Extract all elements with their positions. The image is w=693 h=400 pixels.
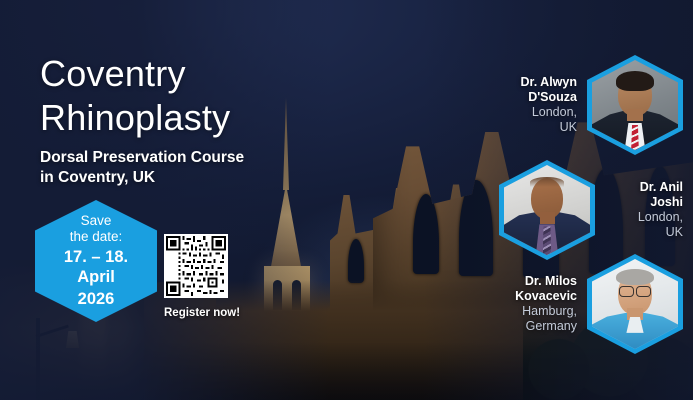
speaker-country: Germany [515,319,577,334]
speaker-card-milos-kovacevic: Dr. Milos Kovacevic Hamburg, Germany [515,254,683,354]
qr-code-icon[interactable] [164,234,228,298]
speaker-portrait-hexagon [499,160,595,260]
portrait-milos-kovacevic [592,259,678,349]
speaker-name-line-2: D'Souza [521,90,578,105]
headline-line-2: Rhinoplasty [40,96,230,140]
event-dates: 17. – 18. [64,248,128,268]
save-the-date-line-1: Save [81,213,112,229]
speaker-info: Dr. Alwyn D'Souza London, UK [521,75,578,136]
ruin-window [348,239,364,283]
event-poster: Coventry Rhinoplasty Dorsal Preservation… [0,0,693,400]
poster-subheadline: Dorsal Preservation Course in Coventry, … [40,148,244,189]
subheadline-line-2: in Coventry, UK [40,168,244,188]
glasses-icon [619,286,652,295]
speaker-photo [504,165,590,255]
speaker-card-alwyn-dsouza: Dr. Alwyn D'Souza London, UK [521,55,684,155]
portrait-hair [616,71,654,91]
speaker-name-line-1: Dr. Alwyn [521,75,578,90]
speaker-portrait-hexagon [587,254,683,354]
speaker-photo [592,259,678,349]
poster-headline: Coventry Rhinoplasty [40,52,230,140]
speaker-info: Dr. Anil Joshi London, UK [605,180,683,241]
portrait-anil-joshi [504,165,590,255]
subheadline-line-1: Dorsal Preservation Course [40,148,244,168]
qr-code-svg [166,236,226,296]
speaker-portrait-hexagon [587,55,683,155]
speaker-country: UK [521,120,578,135]
portrait-neck [540,212,555,225]
speaker-name-line-1: Dr. Milos [515,274,577,289]
event-month: April [77,268,115,288]
register-now-label[interactable]: Register now! [164,307,240,319]
portrait-tie [631,125,639,150]
speaker-info: Dr. Milos Kovacevic Hamburg, Germany [515,274,577,335]
portrait-hair [530,177,564,188]
speaker-name-line-2: Joshi [605,195,683,210]
portrait-tie [543,226,552,255]
event-year: 2026 [78,290,115,310]
portrait-neck [627,109,642,122]
save-the-date-line-2: the date: [70,229,123,245]
speaker-name-line-1: Dr. Anil [605,180,683,195]
portrait-hair [616,269,654,285]
headline-line-1: Coventry [40,52,230,96]
registration-block[interactable]: Register now! [164,234,240,319]
speaker-card-anil-joshi: Dr. Anil Joshi London, UK [499,160,683,260]
speaker-city: Hamburg, [515,304,577,319]
speaker-city: London, [521,105,578,120]
speaker-city: London, [605,210,683,225]
speaker-photo [592,60,678,150]
speaker-country: UK [605,225,683,240]
portrait-alwyn-dsouza [592,60,678,150]
speaker-name-line-2: Kovacevic [515,289,577,304]
